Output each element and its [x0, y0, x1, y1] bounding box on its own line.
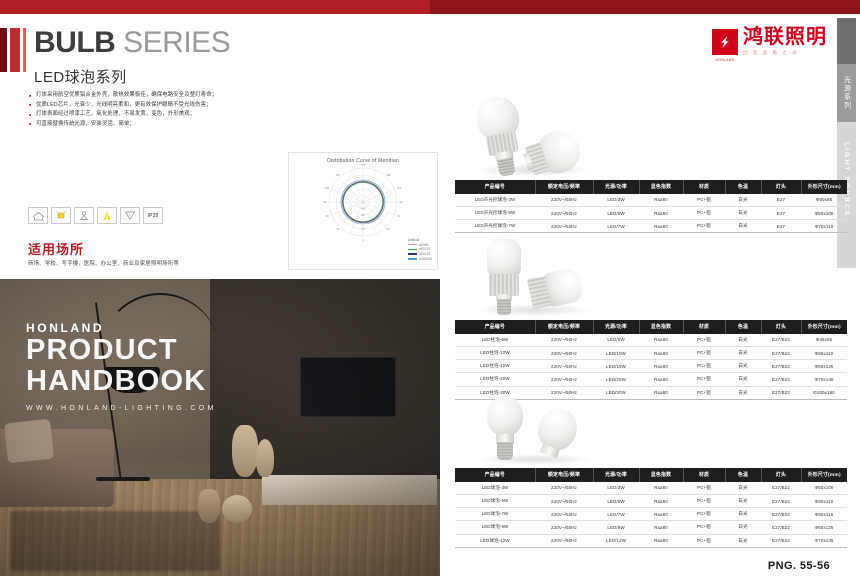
cell-material: PC+铝: [683, 482, 725, 495]
cell-cct: 白光: [725, 494, 761, 507]
cell-cct: 白光: [725, 482, 761, 495]
svg-text:150: 150: [386, 173, 391, 177]
cell-model: LED球泡-3W: [455, 482, 535, 495]
svg-text:320: 320: [361, 221, 366, 224]
cell-base: E27/B22: [761, 494, 801, 507]
table-row: LED柱泡-10W220V~/50HzLED/10WRa≥80PC+铝白光E27…: [455, 346, 847, 359]
col-header: 产品编号: [455, 180, 535, 194]
cell-cri: Ra≥80: [639, 373, 683, 386]
interior-photo: HONLAND PRODUCT HANDBOOK WWW.HONLAND-LIG…: [0, 279, 440, 576]
cell-material: PC+铝: [683, 534, 725, 547]
cell-cri: Ra≥80: [639, 521, 683, 534]
company-logo: HONLAND 鸿联照明 创造品质之光: [712, 27, 827, 56]
table-row: LED球泡-3W220V~/50HzLED/3WRa≥80PC+铝白光E27/B…: [455, 482, 847, 495]
cell-cri: Ra≥80: [639, 508, 683, 521]
cell-voltage: 220V~/50Hz: [535, 508, 593, 521]
feature-item: 灯体采用航空优质铝合金外壳，散热效果极佳，确保电路安全及整灯寿命；: [29, 91, 329, 101]
cell-cct: 白光: [725, 508, 761, 521]
cell-voltage: 220V~/50Hz: [535, 534, 593, 547]
beam-angle-icon: [97, 207, 117, 224]
legend-item: c90/270: [408, 247, 432, 251]
legend-item: c45/225: [408, 252, 432, 256]
applicable-places-text: 商场、学校、写字楼、医院、办公室、商业及家居照明场所等: [28, 259, 179, 267]
title-accent-bars: [0, 28, 26, 72]
cell-cri: Ra≥80: [639, 346, 683, 359]
cell-power: LED/9W: [593, 521, 639, 534]
hero-brand: HONLAND: [26, 321, 217, 335]
cell-material: PC+铝: [683, 334, 725, 347]
cell-model: LED柱泡-5W: [455, 334, 535, 347]
cell-base: E27/B22: [761, 346, 801, 359]
table-header-row: 产品编号 额定电压/频率 光源/功率 显色指数 材质 色温 灯头 外形尺寸(mm…: [455, 468, 847, 482]
table-row: LED球泡-12W220V~/50HzLED/12WRa≥80PC+铝白光E27…: [455, 534, 847, 547]
col-header: 显色指数: [639, 468, 683, 482]
logo-mark-caption: HONLAND: [712, 58, 738, 62]
bulb-image: [483, 396, 527, 466]
cell-cri: Ra≥80: [639, 220, 683, 233]
title-main-light: SERIES: [115, 26, 230, 59]
table-header-row: 产品编号 额定电压/频率 光源/功率 显色指数 材质 色温 灯头 外形尺寸(mm…: [455, 180, 847, 194]
spec-table-3: 产品编号 额定电压/频率 光源/功率 显色指数 材质 色温 灯头 外形尺寸(mm…: [455, 468, 847, 548]
col-header: 额定电压/频率: [535, 468, 593, 482]
cell-power: LED/15W: [593, 360, 639, 373]
legend-label: c90/270: [419, 247, 430, 251]
cell-cct: 白光: [725, 360, 761, 373]
col-header: 色温: [725, 320, 761, 334]
cell-voltage: 220V~/50Hz: [535, 373, 593, 386]
cell-size: Φ70x135: [801, 534, 847, 547]
cell-material: PC+铝: [683, 494, 725, 507]
cell-base: E27: [761, 220, 801, 233]
cell-base: E27/B22: [761, 334, 801, 347]
top-accent-bar-right: [430, 0, 860, 14]
legend-item: c0/180: [408, 243, 432, 247]
col-header: 外形尺寸(mm): [801, 468, 847, 482]
cell-size: Φ50x100: [801, 482, 847, 495]
col-header: 材质: [683, 468, 725, 482]
cell-size: Φ70x110: [801, 220, 847, 233]
cell-model: LED柱泡-10W: [455, 346, 535, 359]
table-row: LED声光控球泡-3W220V~/50HzLED/3WRa≥80PC+铝白光E2…: [455, 194, 847, 207]
cell-material: PC+铝: [683, 373, 725, 386]
cell-voltage: 220V~/50Hz: [535, 360, 593, 373]
table-row: LED声光控球泡-5W220V~/50HzLED/5WRa≥80PC+铝白光E2…: [455, 206, 847, 219]
square-chip-icon: [51, 207, 71, 224]
col-header: 灯头: [761, 320, 801, 334]
chart-legend: Unit:cd c0/180 c90/270 c45/225 c135/315: [408, 238, 432, 261]
catalog-page: BULB SERIES LED球泡系列 灯体采用航空优质铝合金外壳，散热效果极佳…: [0, 0, 860, 584]
cell-cct: 白光: [725, 373, 761, 386]
col-header: 灯头: [761, 468, 801, 482]
col-header: 外形尺寸(mm): [801, 320, 847, 334]
table-row: LED柱泡-20W220V~/50HzLED/20WRa≥80PC+铝白光E27…: [455, 373, 847, 386]
downlight-icon: [74, 207, 94, 224]
legend-item: c135/315: [408, 257, 432, 261]
cell-material: PC+铝: [683, 521, 725, 534]
cell-material: PC+铝: [683, 508, 725, 521]
cell-power: LED/7W: [593, 508, 639, 521]
cell-cri: Ra≥80: [639, 482, 683, 495]
cell-cri: Ra≥80: [639, 334, 683, 347]
cell-cri: Ra≥80: [639, 360, 683, 373]
product-block-3: 产品编号 额定电压/频率 光源/功率 显色指数 材质 色温 灯头 外形尺寸(mm…: [455, 392, 847, 548]
col-header: 材质: [683, 320, 725, 334]
cell-size: Φ55x110: [801, 346, 847, 359]
cell-cct: 白光: [725, 521, 761, 534]
svg-text:640: 640: [361, 208, 366, 211]
cell-power: LED/3W: [593, 482, 639, 495]
chart-unit-label: Unit:cd: [408, 238, 432, 242]
col-header: 色温: [725, 468, 761, 482]
page-title: BULB SERIES LED球泡系列: [34, 26, 230, 87]
cell-voltage: 220V~/50Hz: [535, 194, 593, 207]
cell-material: PC+铝: [683, 220, 725, 233]
spec-table-2: 产品编号 额定电压/频率 光源/功率 显色指数 材质 色温 灯头 外形尺寸(mm…: [455, 320, 847, 400]
svg-text:90: 90: [324, 200, 327, 204]
cell-voltage: 220V~/50Hz: [535, 521, 593, 534]
cell-size: Φ60x115: [801, 508, 847, 521]
col-header: 灯头: [761, 180, 801, 194]
cell-model: LED柱泡-20W: [455, 373, 535, 386]
top-accent-bar-left: [0, 0, 430, 14]
svg-text:150: 150: [335, 173, 340, 177]
house-icon: [28, 207, 48, 224]
cell-base: E27/B22: [761, 373, 801, 386]
logo-mark-icon: HONLAND: [712, 29, 738, 55]
hero-line1: PRODUCT: [26, 335, 217, 366]
cell-model: LED球泡-5W: [455, 494, 535, 507]
cell-model: LED声光控球泡-3W: [455, 194, 535, 207]
col-header: 产品编号: [455, 320, 535, 334]
svg-text:120: 120: [397, 186, 402, 190]
attribute-icon-strip: V IP20: [28, 207, 163, 224]
svg-text:30: 30: [337, 227, 340, 231]
svg-text:120: 120: [325, 186, 330, 190]
hero-branding: HONLAND PRODUCT HANDBOOK WWW.HONLAND-LIG…: [26, 321, 217, 412]
svg-text:60: 60: [398, 214, 401, 218]
hero-line2: HANDBOOK: [26, 366, 217, 397]
col-header: 额定电压/频率: [535, 320, 593, 334]
product-block-2: 产品编号 额定电压/频率 光源/功率 显色指数 材质 色温 灯头 外形尺寸(mm…: [455, 232, 847, 400]
feature-item: 优质LED芯片，光衰少，光线明亮柔和，更有效保护眼睛不受光线伤害；: [29, 101, 329, 111]
distribution-curve-card: Distribution Curve of Meridian: [288, 152, 438, 270]
cell-material: PC+铝: [683, 206, 725, 219]
cell-size: Φ60x85: [801, 194, 847, 207]
svg-text:V: V: [129, 213, 131, 217]
cell-power: LED/20W: [593, 373, 639, 386]
cell-cri: Ra≥80: [639, 534, 683, 547]
cell-cct: 白光: [725, 534, 761, 547]
ip-rating-icon: IP20: [143, 207, 163, 224]
legend-label: c0/180: [419, 243, 429, 247]
applicable-places-title: 适用场所: [28, 239, 84, 258]
table-header-row: 产品编号 额定电压/频率 光源/功率 显色指数 材质 色温 灯头 外形尺寸(mm…: [455, 320, 847, 334]
col-header: 材质: [683, 180, 725, 194]
col-header: 光源/功率: [593, 320, 639, 334]
cell-model: LED球泡-9W: [455, 521, 535, 534]
cell-model: LED柱泡-15W: [455, 360, 535, 373]
cell-base: E27/B22: [761, 482, 801, 495]
legend-label: c45/225: [419, 252, 430, 256]
page-number: PNG. 55-56: [768, 560, 830, 572]
cell-model: LED球泡-7W: [455, 508, 535, 521]
cell-base: E27/B22: [761, 521, 801, 534]
hero-url: WWW.HONLAND-LIGHTING.COM: [26, 405, 217, 412]
cell-voltage: 220V~/50Hz: [535, 334, 593, 347]
svg-text:30: 30: [387, 227, 390, 231]
logo-chinese-name: 鸿联照明: [743, 27, 827, 48]
cell-power: LED/5W: [593, 494, 639, 507]
cell-power: LED/3W: [593, 194, 639, 207]
cell-size: Φ60x100: [801, 206, 847, 219]
cell-model: LED声光控球泡-5W: [455, 206, 535, 219]
cell-base: E27/B22: [761, 508, 801, 521]
col-header: 显色指数: [639, 180, 683, 194]
svg-text:90: 90: [400, 200, 403, 204]
cell-cct: 白光: [725, 206, 761, 219]
cell-material: PC+铝: [683, 346, 725, 359]
anti-glare-icon: V: [120, 207, 140, 224]
col-header: 光源/功率: [593, 180, 639, 194]
cell-power: LED/5W: [593, 334, 639, 347]
standard-bulb-photo: [455, 392, 847, 468]
cell-size: Φ45x85: [801, 334, 847, 347]
cell-base: E27: [761, 206, 801, 219]
cell-power: LED/7W: [593, 220, 639, 233]
feature-item: 灯体表面经过喷漆工艺，氧化处理，不易发黄、变色，外形美观；: [29, 110, 329, 120]
cell-model: LED球泡-12W: [455, 534, 535, 547]
bulb-image: [522, 253, 588, 319]
title-main-bold: BULB: [34, 26, 115, 59]
legend-label: c135/315: [419, 257, 432, 261]
cell-voltage: 220V~/50Hz: [535, 482, 593, 495]
col-header: 色温: [725, 180, 761, 194]
cell-cct: 白光: [725, 194, 761, 207]
bulb-image: [481, 238, 527, 318]
cell-power: LED/10W: [593, 346, 639, 359]
cell-material: PC+铝: [683, 360, 725, 373]
cell-voltage: 220V~/50Hz: [535, 494, 593, 507]
col-header: 显色指数: [639, 320, 683, 334]
table-row: LED声光控球泡-7W220V~/50HzLED/7WRa≥80PC+铝白光E2…: [455, 220, 847, 233]
cell-size: Φ60x110: [801, 494, 847, 507]
svg-text:480: 480: [361, 214, 366, 217]
cell-base: E27: [761, 194, 801, 207]
cell-cri: Ra≥80: [639, 194, 683, 207]
feature-item: 可直接替换传统光源，安装灵活、简单；: [29, 120, 329, 130]
cell-cct: 白光: [725, 334, 761, 347]
ip-rating-label: IP20: [147, 213, 158, 219]
svg-text:160: 160: [361, 228, 366, 231]
cell-base: E27/B22: [761, 534, 801, 547]
page-subtitle: LED球泡系列: [34, 66, 230, 87]
svg-text:60: 60: [326, 214, 329, 218]
cell-voltage: 220V~/50Hz: [535, 346, 593, 359]
svg-text:180: 180: [361, 164, 366, 167]
cell-size: Φ75x140: [801, 373, 847, 386]
cell-cct: 白光: [725, 346, 761, 359]
col-header: 额定电压/频率: [535, 180, 593, 194]
svg-text:0: 0: [362, 238, 364, 242]
cell-size: Φ68x125: [801, 360, 847, 373]
cell-size: Φ60x125: [801, 521, 847, 534]
cell-voltage: 220V~/50Hz: [535, 206, 593, 219]
cell-cct: 白光: [725, 220, 761, 233]
cell-material: PC+铝: [683, 194, 725, 207]
table-row: LED柱泡-15W220V~/50HzLED/15WRa≥80PC+铝白光E27…: [455, 360, 847, 373]
product-block-1: 产品编号 额定电压/频率 光源/功率 显色指数 材质 色温 灯头 外形尺寸(mm…: [455, 88, 847, 233]
table-row: LED球泡-9W220V~/50HzLED/9WRa≥80PC+铝白光E27/B…: [455, 521, 847, 534]
cell-power: LED/12W: [593, 534, 639, 547]
col-header: 光源/功率: [593, 468, 639, 482]
cell-model: LED声光控球泡-7W: [455, 220, 535, 233]
cell-base: E27/B22: [761, 360, 801, 373]
logo-slogan: 创造品质之光: [743, 50, 827, 56]
table-row: LED柱泡-5W220V~/50HzLED/5WRa≥80PC+铝白光E27/B…: [455, 334, 847, 347]
cell-power: LED/5W: [593, 206, 639, 219]
col-header: 产品编号: [455, 468, 535, 482]
sensor-bulb-photo: [455, 88, 847, 180]
cell-voltage: 220V~/50Hz: [535, 220, 593, 233]
table-row: LED球泡-5W220V~/50HzLED/5WRa≥80PC+铝白光E27/B…: [455, 494, 847, 507]
cell-cri: Ra≥80: [639, 206, 683, 219]
column-bulb-photo: [455, 232, 847, 320]
col-header: 外形尺寸(mm): [801, 180, 847, 194]
feature-list: 灯体采用航空优质铝合金外壳，散热效果极佳，确保电路安全及整灯寿命； 优质LED芯…: [29, 91, 329, 129]
cell-cri: Ra≥80: [639, 494, 683, 507]
spec-table-1: 产品编号 额定电压/频率 光源/功率 显色指数 材质 色温 灯头 外形尺寸(mm…: [455, 180, 847, 233]
table-row: LED球泡-7W220V~/50HzLED/7WRa≥80PC+铝白光E27/B…: [455, 508, 847, 521]
